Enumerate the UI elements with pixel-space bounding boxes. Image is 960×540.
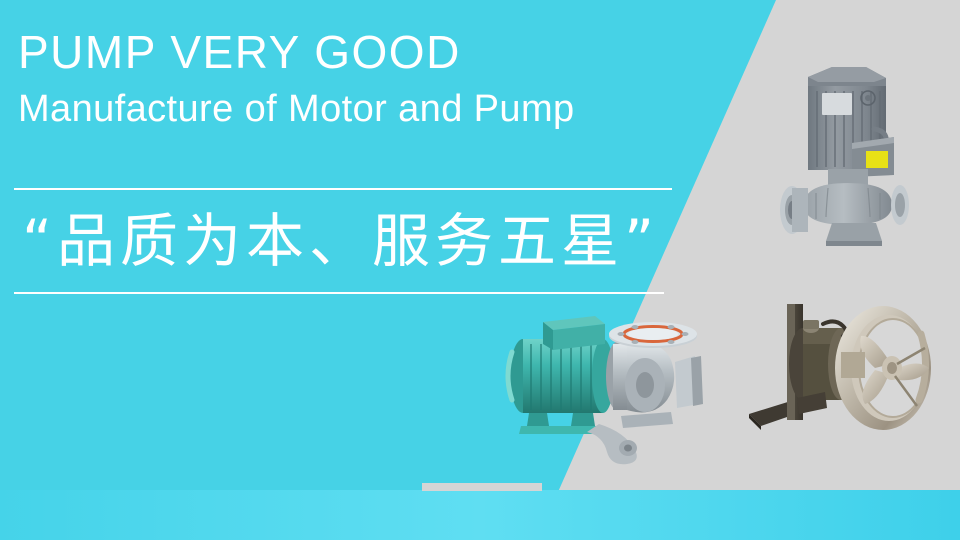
- product-image-centrifugal-pump: [495, 300, 725, 465]
- bottom-progress-indicator[interactable]: [422, 483, 542, 491]
- divider-bottom: [14, 292, 664, 294]
- page-title: PUMP VERY GOOD: [18, 22, 718, 82]
- divider-top: [14, 188, 672, 190]
- product-image-submersible-mixer: [745, 290, 955, 460]
- page-subtitle: Manufacture of Motor and Pump: [18, 82, 718, 136]
- product-image-inline-pump: [770, 55, 935, 255]
- headline-block: PUMP VERY GOOD Manufacture of Motor and …: [18, 22, 718, 136]
- slogan-chinese: “品质为本、服务五星”: [22, 200, 659, 282]
- bottom-cyan-band: [0, 490, 960, 540]
- promo-banner: PUMP VERY GOOD Manufacture of Motor and …: [0, 0, 960, 540]
